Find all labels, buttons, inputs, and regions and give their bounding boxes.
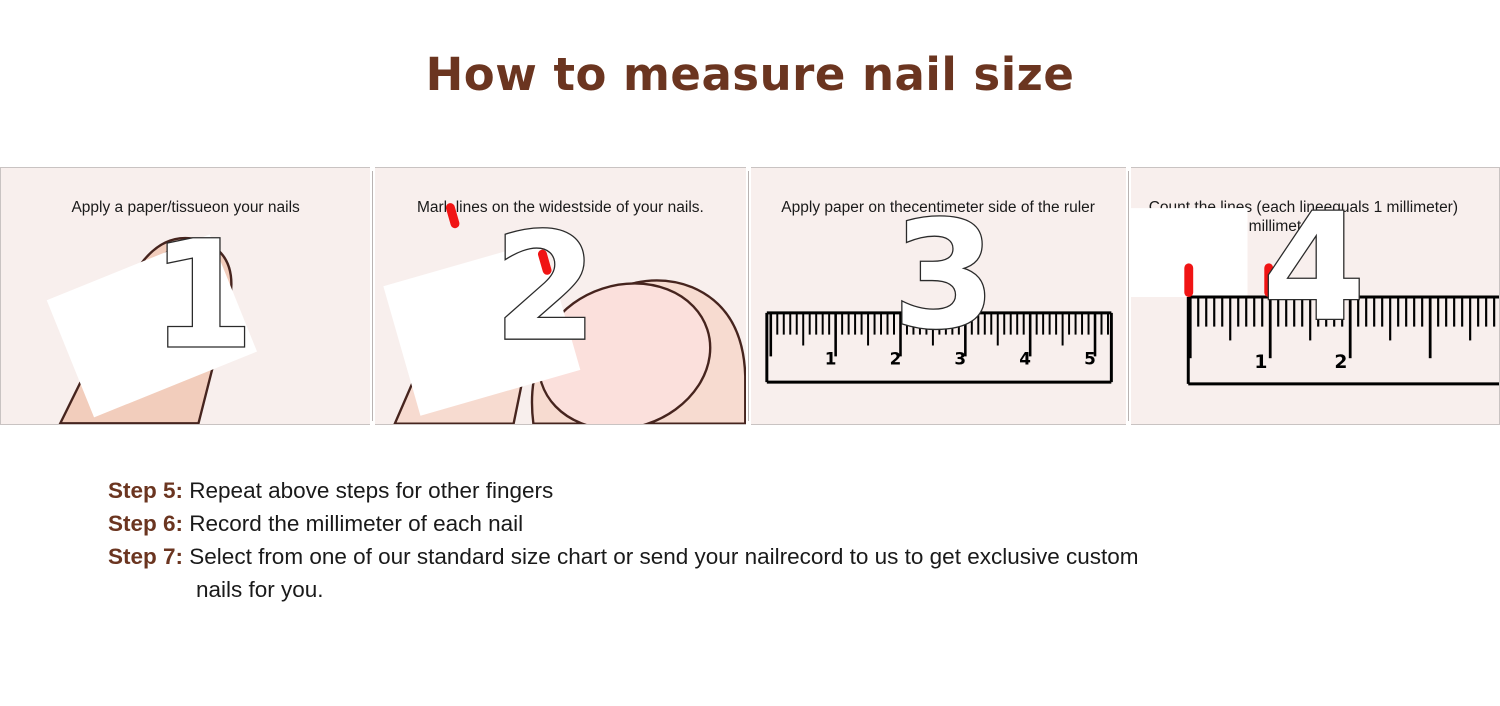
illustration-ruler-zoom-with-marks: 12 4 — [1131, 168, 1499, 424]
panel-divider-3 — [1128, 171, 1129, 421]
panel-number-3: 3 — [892, 190, 995, 363]
page-title: How to measure nail size — [0, 48, 1500, 101]
panel-step-1: Apply a paper/tissueon your nails 1 — [0, 167, 370, 425]
svg-text:1: 1 — [151, 209, 254, 381]
step-5-label: Step 5: — [108, 478, 183, 503]
illustration-ruler: 12345 3 — [751, 168, 1126, 424]
panel-number-4: 4 — [1262, 182, 1365, 354]
step-7-text-continued: nails for you. — [108, 573, 1408, 606]
panel-step-2: Mark lines on the widestside of your nai… — [375, 167, 745, 425]
panel-step-4: Count the lines (each lineequals 1 milli… — [1131, 167, 1500, 425]
steps-panel-row: Apply a paper/tissueon your nails 1 Mark… — [0, 167, 1500, 425]
illustration-finger-with-marked-paper: 2 — [375, 168, 745, 424]
ruler-label: 2 — [1334, 352, 1347, 373]
step-line-5: Step 5: Repeat above steps for other fin… — [108, 474, 1408, 507]
step-7-text: Select from one of our standard size cha… — [189, 544, 1138, 569]
ruler-label: 1 — [1254, 352, 1267, 373]
steps-list: Step 5: Repeat above steps for other fin… — [108, 474, 1408, 606]
step-7-label: Step 7: — [108, 544, 183, 569]
panel-divider-1 — [372, 171, 373, 421]
ruler-labels: 12 — [1254, 352, 1347, 373]
ruler-label: 5 — [1084, 348, 1096, 368]
ruler-label: 4 — [1019, 348, 1031, 368]
svg-text:4: 4 — [1262, 182, 1365, 354]
step-6-label: Step 6: — [108, 511, 183, 536]
ruler-label: 1 — [824, 348, 836, 368]
step-line-6: Step 6: Record the millimeter of each na… — [108, 507, 1408, 540]
panel-divider-2 — [748, 171, 749, 421]
panel-number-1: 1 — [151, 209, 254, 381]
panel-step-3: Apply paper on thecentimeter side of the… — [751, 167, 1126, 425]
step-6-text: Record the millimeter of each nail — [189, 511, 523, 536]
illustration-finger-with-paper: 1 — [1, 168, 370, 424]
step-5-text: Repeat above steps for other fingers — [189, 478, 553, 503]
svg-text:3: 3 — [892, 190, 995, 363]
panel-number-2: 2 — [494, 202, 597, 375]
step-line-7: Step 7: Select from one of our standard … — [108, 540, 1408, 606]
svg-text:2: 2 — [494, 202, 597, 375]
